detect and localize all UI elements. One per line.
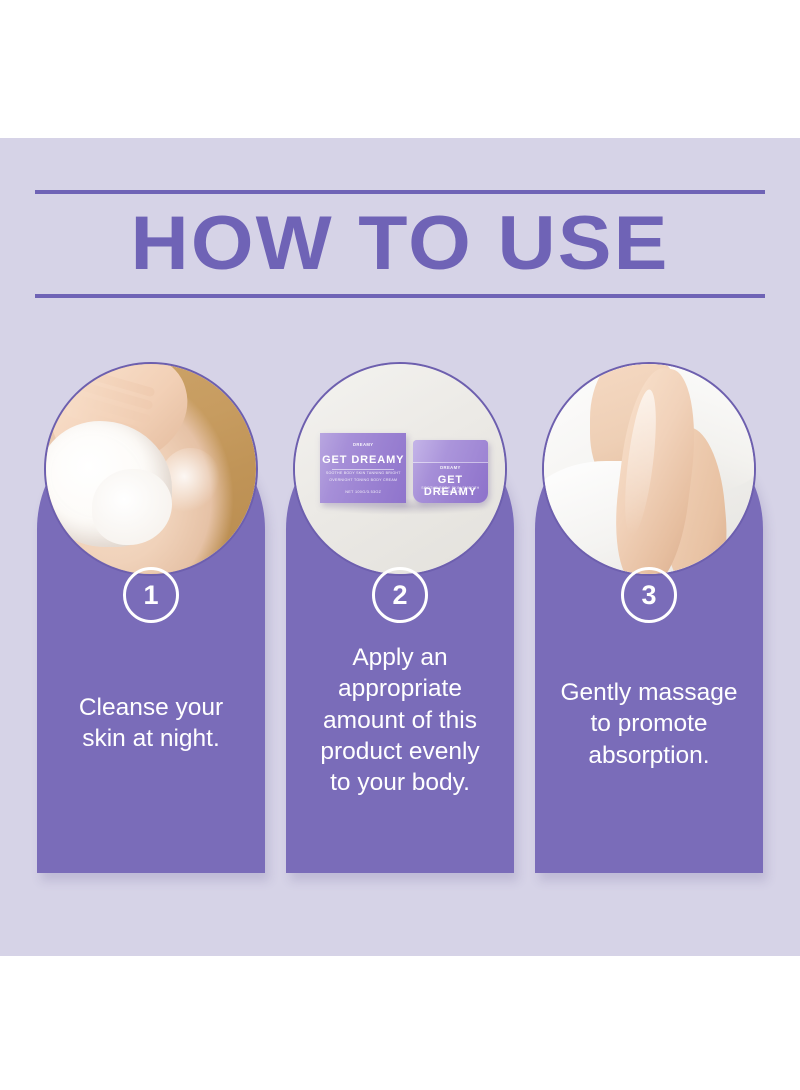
step-card-1: 1 Cleanse your skin at night. [37, 415, 265, 873]
step-2-photo: DREAMY GET DREAMY SOOTHE BODY SKIN TANNI… [293, 362, 507, 576]
product-box-net-weight: NET 100G/3.53OZ [320, 490, 406, 494]
product-box-subtitle-1: SOOTHE BODY SKIN TANNING BRIGHT [320, 472, 406, 476]
product-jar-lid [413, 440, 489, 464]
product-jar-brand: DREAMY [413, 466, 489, 471]
step-3-photo [542, 362, 756, 576]
step-card-2: DREAMY GET DREAMY SOOTHE BODY SKIN TANNI… [286, 415, 514, 873]
step-1-photo [44, 362, 258, 576]
step-card-3: 3 Gently massage to promote absorption. [535, 415, 763, 873]
step-caption-3: Gently massage to promote absorption. [545, 677, 753, 771]
product-jar-subtitle: SOOTHE BODY SKIN SMOOTH BRIGHTEN [413, 487, 489, 495]
product-box-divider [332, 469, 394, 470]
step-caption-1: Cleanse your skin at night. [47, 692, 255, 755]
step-number-badge-3: 3 [621, 567, 677, 623]
product-box-name: GET DREAMY [320, 454, 406, 466]
steps-container: 1 Cleanse your skin at night. DREAMY GET… [0, 0, 800, 1090]
product-box: DREAMY GET DREAMY SOOTHE BODY SKIN TANNI… [320, 433, 406, 502]
step-number-badge-2: 2 [372, 567, 428, 623]
step-number-badge-1: 1 [123, 567, 179, 623]
product-jar: DREAMY GET DREAMY SOOTHE BODY SKIN SMOOT… [413, 440, 489, 503]
product-box-subtitle-2: OVERNIGHT TONING BODY CREAM [320, 479, 406, 483]
product-box-brand: DREAMY [320, 443, 406, 448]
step-caption-2: Apply an appropriate amount of this prod… [296, 642, 504, 799]
infographic-page: HOW TO USE 1 Cleanse your skin at night. [0, 0, 800, 1090]
